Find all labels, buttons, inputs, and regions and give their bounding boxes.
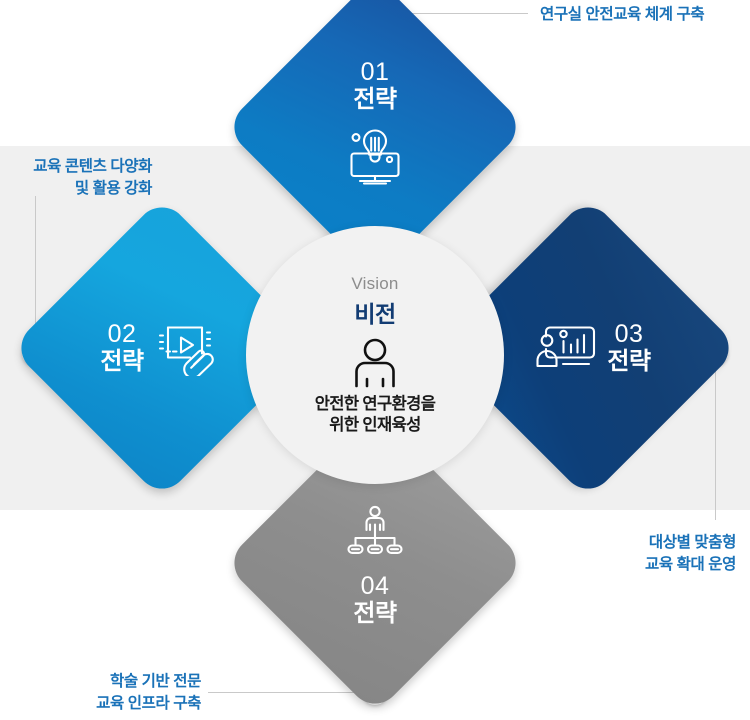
strategy-card-01-content: 01 전략	[268, 20, 482, 234]
vision-strategy-diagram: 연구실 안전교육 체계 구축 교육 콘텐츠 다양화 및 활용 강화 대상별 맞춤…	[0, 0, 750, 720]
strategy-card-01-number: 01	[361, 58, 390, 86]
callout-strategy-04: 학술 기반 전문 교육 인프라 구축	[58, 671, 201, 716]
strategy-card-04-label: 전략	[353, 600, 396, 628]
connector-line-strategy-01	[398, 13, 528, 14]
callout-strategy-03: 대상별 맞춤형 교육 확대 운영	[598, 532, 736, 577]
org-chart-icon	[346, 504, 404, 558]
strategy-card-02-content: 02 전략	[55, 241, 269, 455]
person-icon	[347, 337, 403, 393]
vision-label-en: Vision	[351, 274, 398, 294]
vision-description-line2: 위한 인재육성	[315, 415, 436, 436]
vision-description-line1: 안전한 연구환경을	[315, 394, 436, 415]
strategy-card-03-label: 전략	[607, 348, 650, 376]
callout-strategy-04-line2: 교육 인프라 구축	[58, 693, 201, 715]
strategy-card-01-label: 전략	[353, 86, 396, 114]
callout-strategy-02-line1: 교육 콘텐츠 다양화	[0, 156, 152, 178]
connector-line-strategy-03	[715, 366, 716, 520]
strategy-card-04-number: 04	[361, 572, 390, 600]
vision-description: 안전한 연구환경을 위한 인재육성	[315, 394, 436, 437]
strategy-card-02-number: 02	[108, 320, 137, 348]
video-attachment-icon	[154, 320, 216, 376]
vision-hub: Vision 비전 안전한 연구환경을 위한 인재육성	[246, 226, 504, 484]
callout-strategy-04-line1: 학술 기반 전문	[58, 671, 201, 693]
strategy-card-01-text: 01 전략	[353, 58, 396, 114]
strategy-card-04-text: 04 전략	[353, 572, 396, 628]
strategy-card-03-text: 03 전략	[607, 320, 650, 376]
vision-label-kr: 비전	[354, 295, 395, 329]
callout-strategy-02-line2: 및 활용 강화	[0, 178, 152, 200]
strategy-card-03-content: 03 전략	[481, 241, 695, 455]
strategy-card-02-label: 전략	[100, 348, 143, 376]
strategy-card-03-number: 03	[615, 320, 644, 348]
callout-strategy-03-line1: 대상별 맞춤형	[598, 532, 736, 554]
callout-strategy-03-line2: 교육 확대 운영	[598, 554, 736, 576]
monitor-lightbulb-icon	[344, 128, 406, 186]
strategy-card-04-content: 04 전략	[268, 456, 482, 670]
callout-strategy-01: 연구실 안전교육 체계 구축	[540, 4, 704, 26]
callout-strategy-01-line1: 연구실 안전교육 체계 구축	[540, 4, 704, 26]
presenter-chart-icon	[535, 322, 597, 374]
strategy-card-02-text: 02 전략	[100, 320, 143, 376]
callout-strategy-02: 교육 콘텐츠 다양화 및 활용 강화	[0, 156, 152, 201]
connector-line-strategy-04	[208, 692, 363, 693]
